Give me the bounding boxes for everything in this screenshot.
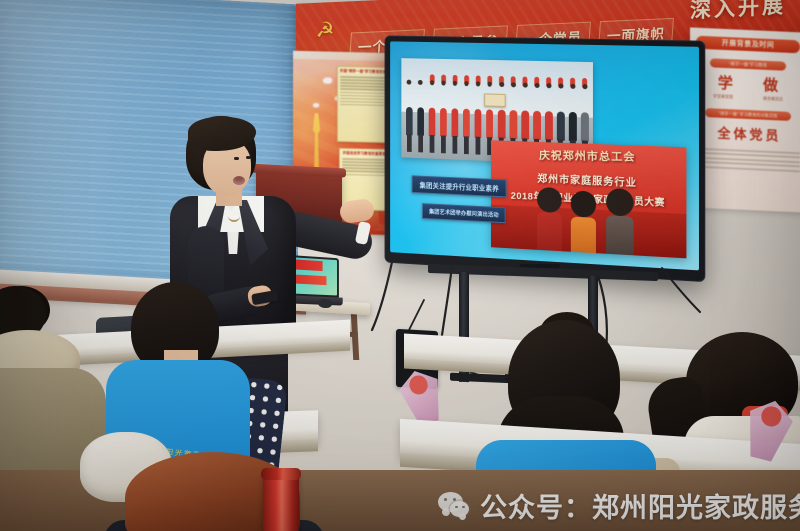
computer-mouse[interactable]: [318, 299, 332, 309]
speaker-mouth: [233, 176, 245, 185]
thermos-cup[interactable]: [263, 473, 299, 531]
speaker-eye: [246, 156, 251, 159]
speaker-eye: [234, 157, 239, 160]
speaker-necklace: [228, 210, 240, 222]
wechat-icon: [438, 492, 471, 519]
photo-scene: ☭ 一个支部 一个堡垒 一个党员 一面旗帜 深入开展 开展"两学一做"学习教育的…: [0, 0, 800, 531]
watermark-text: 公众号：郑州阳光家政服务公司: [480, 486, 800, 525]
watermark: 公众号：郑州阳光家政服务公司: [438, 483, 800, 527]
thermos-cap[interactable]: [261, 468, 301, 480]
